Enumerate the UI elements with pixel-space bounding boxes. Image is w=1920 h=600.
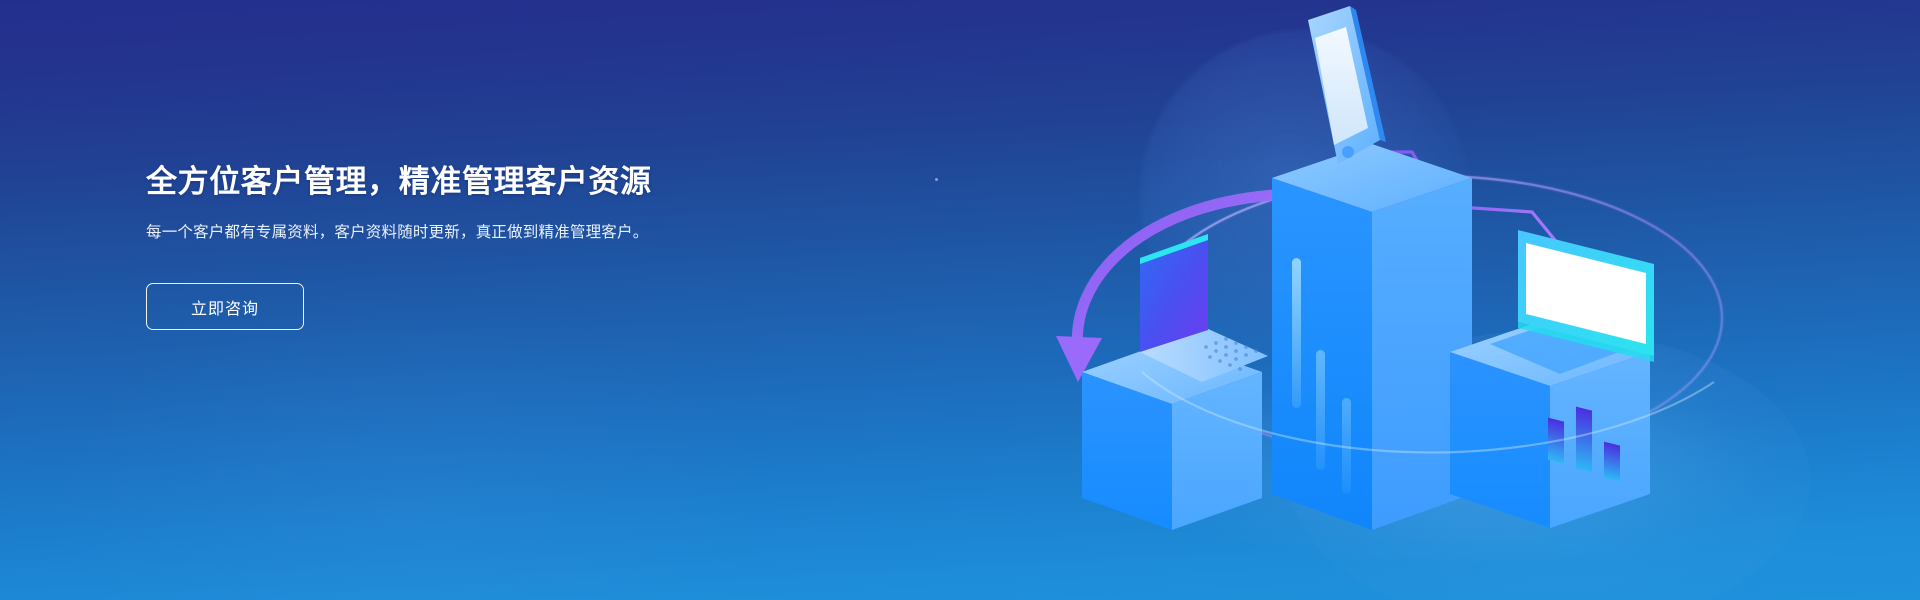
background-glow-ellipse-left [60, 300, 760, 600]
hero-description: 每一个客户都有专属资料，客户资料随时更新，真正做到精准管理客户。 [146, 221, 731, 245]
hero-illustration [1020, 0, 1920, 600]
page-title: 全方位客户管理，精准管理客户资源 [146, 162, 786, 202]
consult-now-button[interactable]: 立即咨询 [146, 283, 304, 330]
hero-banner: 全方位客户管理，精准管理客户资源 每一个客户都有专属资料，客户资料随时更新，真正… [0, 0, 1920, 600]
tablet-home-button-icon [1342, 146, 1354, 158]
pedestal-inner-bar [1292, 258, 1301, 408]
laptop [1140, 234, 1268, 382]
monitor-bar [1604, 442, 1620, 482]
pedestal-center [1272, 144, 1472, 530]
monitor-bar [1576, 407, 1592, 473]
tablet [1308, 6, 1386, 164]
sparkle-dot-icon [935, 178, 938, 181]
pedestal-inner-bar [1316, 350, 1325, 470]
hero-content: 全方位客户管理，精准管理客户资源 每一个客户都有专属资料，客户资料随时更新，真正… [146, 162, 786, 330]
